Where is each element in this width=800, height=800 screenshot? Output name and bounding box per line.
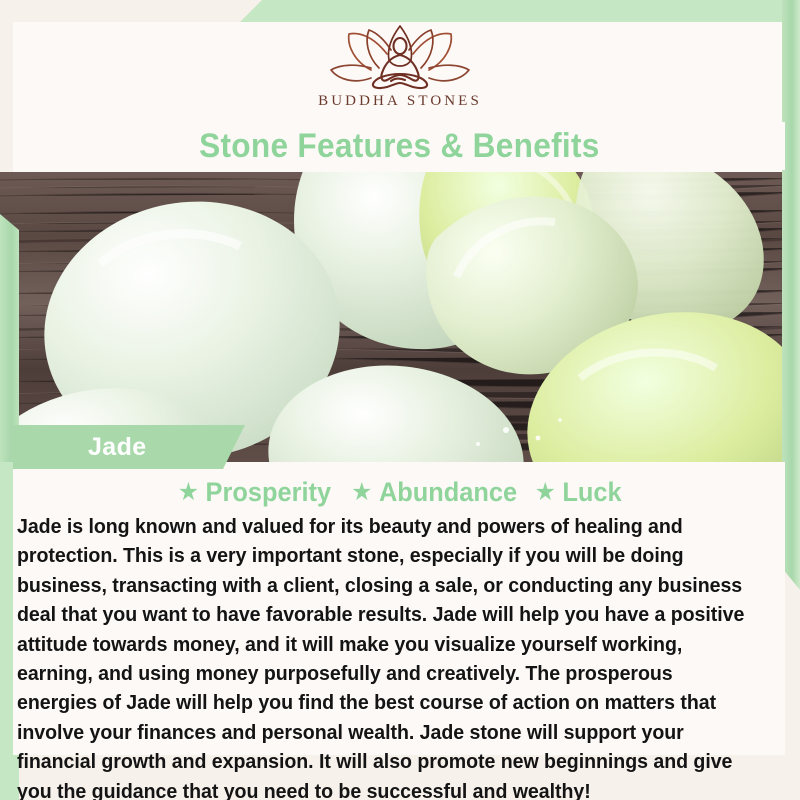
star-icon: ★: [178, 480, 199, 505]
description-paragraph: Jade is long known and valued for its be…: [17, 512, 752, 800]
stone-photo-illustration: [0, 172, 800, 462]
star-icon: ★: [351, 480, 372, 505]
benefit-label: Abundance: [379, 477, 517, 508]
benefit-label: Prosperity: [206, 477, 332, 508]
stone-photo: [0, 172, 800, 462]
stone-name-label: Jade: [88, 433, 147, 462]
benefit-label: Luck: [563, 477, 622, 508]
benefit-item-abundance: ★ Abundance: [351, 477, 517, 508]
poster-root: BUDDHA STONES: [0, 0, 800, 800]
description-text: Jade is long known and valued for its be…: [17, 512, 752, 800]
star-icon: ★: [535, 480, 556, 505]
brand-logo-block: BUDDHA STONES: [0, 24, 800, 120]
benefit-item-prosperity: ★ Prosperity: [178, 477, 331, 508]
lotus-meditation-icon: [325, 24, 475, 90]
page-title: Stone Features & Benefits: [199, 127, 600, 166]
benefits-row: ★ Prosperity ★ Abundance ★ Luck: [13, 475, 785, 509]
brand-name: BUDDHA STONES: [318, 93, 482, 110]
title-banner: Stone Features & Benefits: [13, 122, 785, 170]
stone-name-badge: Jade: [13, 425, 245, 469]
benefit-item-luck: ★ Luck: [535, 477, 622, 508]
